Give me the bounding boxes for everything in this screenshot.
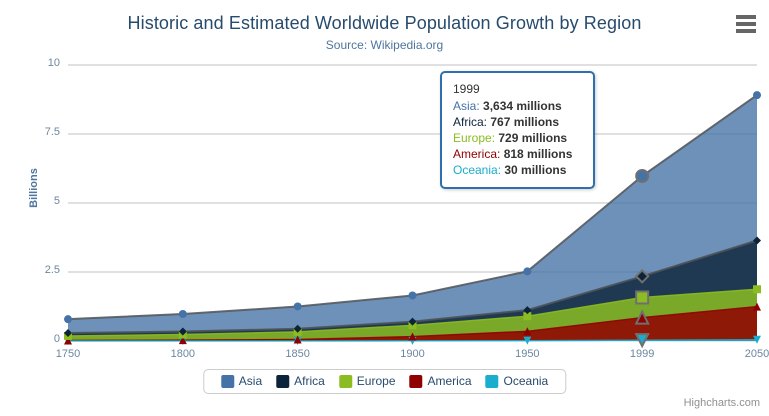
legend-swatch-america bbox=[410, 375, 423, 388]
tooltip-series-value: 3,634 millions bbox=[483, 99, 562, 113]
tooltip-series-name: Oceania: bbox=[453, 163, 504, 177]
tooltip-series-value: 767 millions bbox=[490, 115, 559, 129]
y-tick-7-5: 7.5 bbox=[20, 126, 60, 138]
tooltip-header: 1999 bbox=[453, 81, 583, 98]
legend-item-america[interactable]: America bbox=[410, 374, 472, 388]
x-tick-1750: 1750 bbox=[38, 348, 98, 360]
x-tick-1999: 1999 bbox=[612, 348, 672, 360]
x-tick-1800: 1800 bbox=[153, 348, 213, 360]
tooltip-series-value: 30 millions bbox=[504, 163, 566, 177]
tooltip-row: Europe: 729 millions bbox=[453, 130, 583, 146]
tooltip-series-value: 729 millions bbox=[498, 131, 567, 145]
legend-swatch-oceania bbox=[486, 375, 499, 388]
x-tick-1950: 1950 bbox=[497, 348, 557, 360]
tooltip-rows: Asia: 3,634 millionsAfrica: 767 millions… bbox=[453, 98, 583, 178]
legend-label: Asia bbox=[239, 374, 262, 388]
legend-item-asia[interactable]: Asia bbox=[221, 374, 262, 388]
tooltip-series-name: America: bbox=[453, 147, 504, 161]
tooltip-row: Oceania: 30 millions bbox=[453, 162, 583, 178]
tooltip-row: Africa: 767 millions bbox=[453, 114, 583, 130]
x-tick-1900: 1900 bbox=[383, 348, 443, 360]
legend-swatch-asia bbox=[221, 375, 234, 388]
tooltip-series-name: Europe: bbox=[453, 131, 498, 145]
highcharts-container: Historic and Estimated Worldwide Populat… bbox=[0, 0, 769, 416]
legend-swatch-europe bbox=[339, 375, 352, 388]
legend-label: Africa bbox=[294, 374, 325, 388]
legend-label: Oceania bbox=[504, 374, 549, 388]
legend-label: Europe bbox=[357, 374, 396, 388]
x-tick-1850: 1850 bbox=[268, 348, 328, 360]
credits-label[interactable]: Highcharts.com bbox=[684, 397, 760, 409]
chart-legend: AsiaAfricaEuropeAmericaOceania bbox=[203, 369, 566, 394]
y-tick-0: 0 bbox=[20, 333, 60, 345]
chart-tooltip: 1999 Asia: 3,634 millionsAfrica: 767 mil… bbox=[440, 71, 595, 189]
legend-swatch-africa bbox=[276, 375, 289, 388]
tooltip-series-value: 818 millions bbox=[504, 147, 573, 161]
tooltip-series-name: Africa: bbox=[453, 115, 490, 129]
y-tick-10: 10 bbox=[20, 57, 60, 69]
legend-item-africa[interactable]: Africa bbox=[276, 374, 325, 388]
y-axis-title: Billions bbox=[28, 148, 40, 228]
tooltip-row: America: 818 millions bbox=[453, 146, 583, 162]
legend-item-europe[interactable]: Europe bbox=[339, 374, 396, 388]
tooltip-row: Asia: 3,634 millions bbox=[453, 98, 583, 114]
legend-label: America bbox=[428, 374, 472, 388]
x-tick-2050: 2050 bbox=[727, 348, 769, 360]
y-tick-2-5: 2.5 bbox=[20, 264, 60, 276]
legend-item-oceania[interactable]: Oceania bbox=[486, 374, 549, 388]
y-tick-5: 5 bbox=[20, 195, 60, 207]
tooltip-series-name: Asia: bbox=[453, 99, 483, 113]
